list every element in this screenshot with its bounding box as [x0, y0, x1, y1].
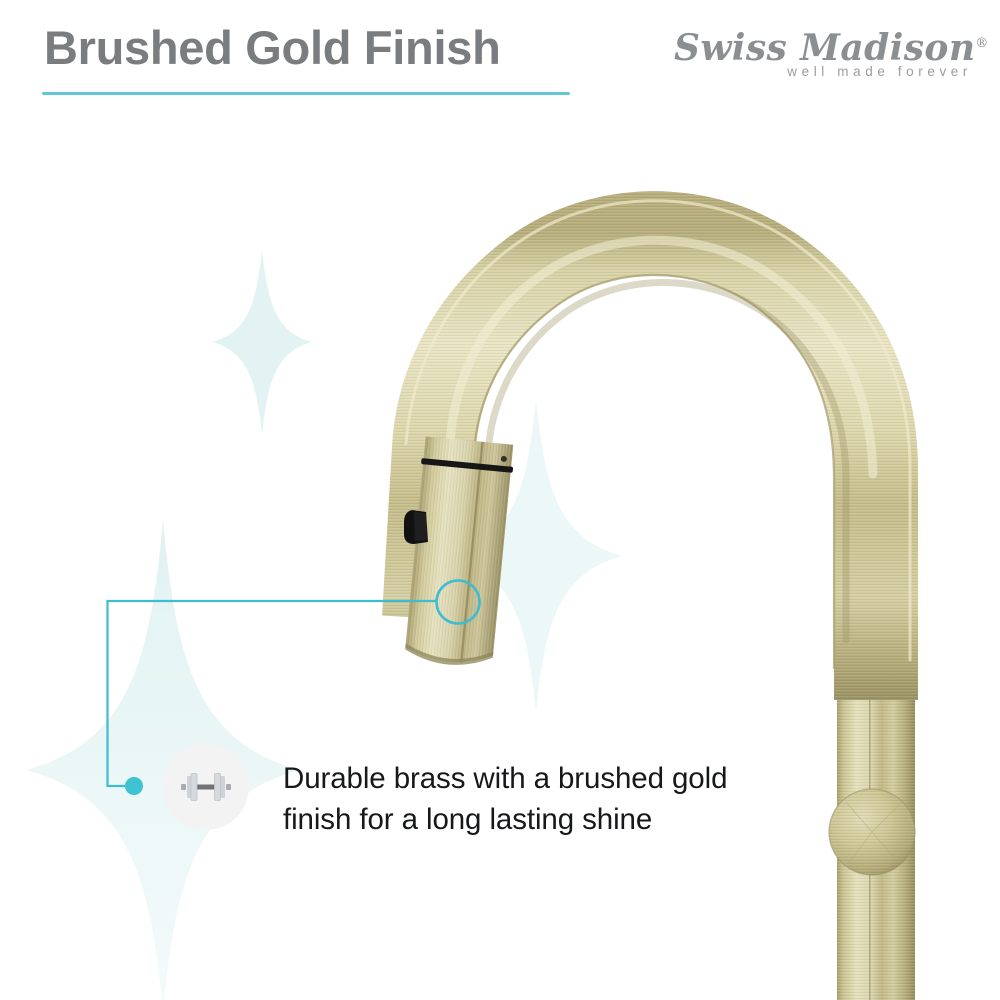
feature-callout-annotation	[0, 0, 1000, 1000]
dumbbell-icon	[175, 769, 237, 805]
faucet-gooseneck-arc	[406, 201, 910, 700]
feature-icon-badge	[163, 744, 249, 830]
faucet-vertical-body	[837, 600, 915, 1000]
page-title: Brushed Gold Finish	[44, 22, 500, 74]
title-underline-rule	[42, 92, 570, 95]
brand-name-text: Swiss Madison	[674, 27, 975, 69]
feature-caption-line-2: finish for a long lasting shine	[283, 799, 803, 840]
brand-logo: Swiss Madison® well made forever	[674, 24, 974, 90]
feature-caption-line-1: Durable brass with a brushed gold	[283, 758, 803, 799]
sparkle-medium-icon	[450, 398, 622, 712]
brand-name: Swiss Madison®	[674, 24, 974, 68]
spray-toggle-button	[404, 510, 428, 544]
sparkle-large-icon	[26, 520, 300, 1000]
registered-trademark-icon: ®	[975, 36, 988, 51]
sparkle-small-icon	[212, 250, 312, 434]
feature-caption: Durable brass with a brushed gold finish…	[283, 758, 803, 840]
faucet-spout-head	[402, 436, 515, 669]
callout-endpoint-dot	[125, 777, 143, 795]
product-feature-graphic: Brushed Gold Finish Swiss Madison® well …	[0, 0, 1000, 1000]
background-sparkles	[0, 0, 1000, 1000]
brand-tagline: well made forever	[787, 64, 972, 79]
spout-highlight-ring-icon	[437, 581, 480, 624]
faucet-side-handle-knob	[829, 789, 915, 875]
faucet-product-image	[0, 0, 1000, 1000]
